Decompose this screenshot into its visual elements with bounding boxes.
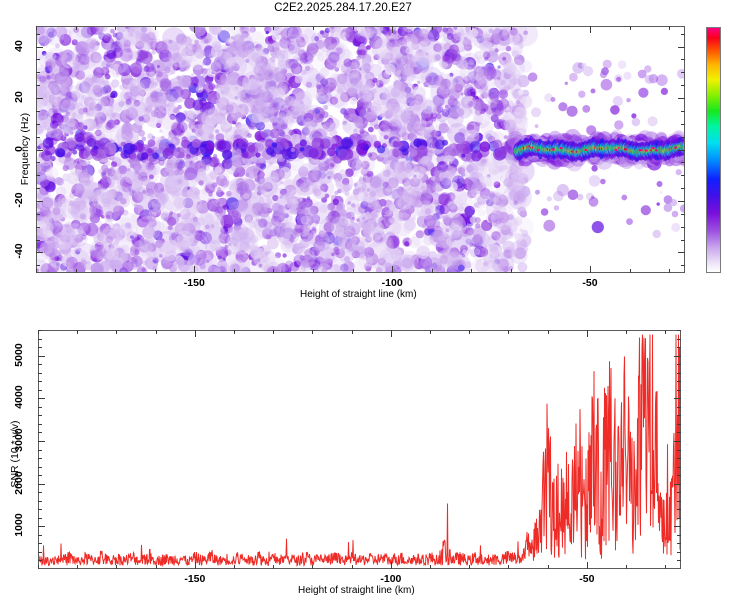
- snr-xtick-minor: [234, 330, 235, 334]
- snr-ytick-minor: [38, 552, 42, 553]
- spectrogram-panel: [36, 26, 685, 273]
- snr-ytick-minor: [38, 432, 42, 433]
- spectrogram-ytick-label: -20: [13, 187, 25, 213]
- snr-xtick-minor: [430, 565, 431, 569]
- snr-xtick-major: [391, 562, 392, 569]
- snr-ytick-label: 2000: [13, 466, 25, 500]
- snr-ytick-major: [38, 398, 45, 399]
- snr-ytick-minor: [38, 560, 42, 561]
- snr-xtick-major: [195, 562, 196, 569]
- spectrogram-ytick-label: 20: [13, 84, 25, 110]
- snr-ytick-minor: [38, 518, 42, 519]
- spectrogram-ytick-minor: [36, 175, 40, 176]
- snr-xtick-minor: [312, 330, 313, 334]
- spectrogram-xtick-minor: [76, 269, 77, 273]
- spectrogram-ytick-major: [36, 47, 43, 48]
- spectrogram-xtick-minor: [155, 26, 156, 30]
- spectrogram-xtick-minor: [313, 26, 314, 30]
- spectrogram-xtick-minor: [76, 26, 77, 30]
- spectrogram-xtick-major: [590, 26, 591, 33]
- spectrogram-xtick-minor: [313, 269, 314, 273]
- spectrogram-ytick-minor: [681, 34, 685, 35]
- spectrogram-xtick-major: [194, 266, 195, 273]
- snr-ytick-minor: [677, 458, 681, 459]
- snr-ytick-minor: [677, 364, 681, 365]
- spectrogram-xtick-minor: [630, 26, 631, 30]
- snr-xtick-major: [391, 330, 392, 337]
- snr-ytick-minor: [677, 501, 681, 502]
- snr-ytick-minor: [38, 535, 42, 536]
- spectrogram-ytick-minor: [36, 72, 40, 73]
- spectrogram-xtick-minor: [234, 269, 235, 273]
- snr-trace: [39, 331, 680, 568]
- snr-xtick-minor: [469, 565, 470, 569]
- snr-xtick-minor: [508, 565, 509, 569]
- snr-ytick-minor: [677, 432, 681, 433]
- snr-ytick-major: [38, 356, 45, 357]
- spectrogram-xtick-minor: [115, 269, 116, 273]
- spectrogram-ytick-minor: [36, 111, 40, 112]
- snr-ytick-major: [674, 398, 681, 399]
- snr-ytick-major: [674, 441, 681, 442]
- spectrogram-xtick-minor: [669, 26, 670, 30]
- snr-ytick-minor: [38, 390, 42, 391]
- spectrogram-ytick-minor: [681, 72, 685, 73]
- spectrogram-ytick-minor: [36, 162, 40, 163]
- spectrogram-ytick-major: [36, 252, 43, 253]
- snr-ytick-minor: [677, 509, 681, 510]
- snr-xtick-minor: [665, 565, 666, 569]
- spectrogram-xtick-major: [392, 266, 393, 273]
- snr-ytick-major: [38, 484, 45, 485]
- spectrogram-ytick-major: [678, 252, 685, 253]
- snr-xtick-minor: [352, 330, 353, 334]
- spectrogram-ytick-major: [36, 150, 43, 151]
- spectrogram-ytick-minor: [681, 175, 685, 176]
- snr-xtick-minor: [116, 565, 117, 569]
- snr-xtick-minor: [156, 330, 157, 334]
- spectrogram-xtick-minor: [36, 26, 37, 30]
- snr-ytick-minor: [38, 381, 42, 382]
- spectrogram-ytick-minor: [681, 137, 685, 138]
- spectrogram-xtick-major: [194, 26, 195, 33]
- snr-ytick-label: 4000: [13, 380, 25, 414]
- snr-xtick-major: [587, 562, 588, 569]
- spectrogram-ytick-label: 0: [13, 136, 25, 162]
- snr-ytick-minor: [38, 424, 42, 425]
- snr-xtick-major: [587, 330, 588, 337]
- snr-xtick-label: -150: [184, 573, 205, 585]
- snr-ytick-minor: [38, 492, 42, 493]
- snr-ytick-minor: [38, 467, 42, 468]
- spectrogram-image: [37, 27, 684, 272]
- spectrogram-ytick-major: [678, 47, 685, 48]
- spectrogram-ytick-minor: [681, 111, 685, 112]
- spectrogram-xtick-minor: [155, 269, 156, 273]
- snr-ytick-minor: [677, 543, 681, 544]
- spectrogram-ytick-minor: [681, 85, 685, 86]
- spectrogram-xtick-label: -150: [184, 277, 205, 289]
- snr-ytick-minor: [677, 373, 681, 374]
- spectrogram-xtick-minor: [432, 26, 433, 30]
- snr-xtick-minor: [430, 330, 431, 334]
- spectrogram-xtick-minor: [115, 26, 116, 30]
- snr-ytick-minor: [38, 407, 42, 408]
- snr-xlabel: Height of straight line (km): [298, 585, 415, 596]
- snr-ytick-major: [674, 356, 681, 357]
- colorbar-gradient: [707, 28, 720, 272]
- spectrogram-xtick-major: [590, 266, 591, 273]
- spectrogram-xtick-label: -100: [382, 277, 403, 289]
- snr-xtick-minor: [508, 330, 509, 334]
- snr-ytick-minor: [38, 330, 42, 331]
- snr-ytick-minor: [677, 467, 681, 468]
- spectrogram-xtick-major: [392, 26, 393, 33]
- snr-xtick-minor: [234, 565, 235, 569]
- snr-xtick-label: -50: [579, 573, 594, 585]
- spectrogram-ytick-minor: [681, 59, 685, 60]
- spectrogram-ytick-minor: [36, 240, 40, 241]
- spectrogram-xtick-minor: [273, 26, 274, 30]
- snr-ytick-minor: [677, 518, 681, 519]
- spectrogram-ytick-major: [678, 201, 685, 202]
- snr-ytick-major: [674, 526, 681, 527]
- spectrogram-xtick-minor: [471, 269, 472, 273]
- snr-ytick-minor: [38, 458, 42, 459]
- spectrogram-ytick-minor: [36, 265, 40, 266]
- snr-ytick-minor: [677, 475, 681, 476]
- snr-panel: [38, 330, 681, 569]
- spectrogram-xtick-minor: [273, 269, 274, 273]
- snr-xtick-minor: [626, 330, 627, 334]
- snr-xtick-minor: [116, 330, 117, 334]
- spectrogram-ytick-major: [678, 150, 685, 151]
- snr-ytick-minor: [677, 415, 681, 416]
- snr-xtick-label: -100: [380, 573, 401, 585]
- spectrogram-ytick-minor: [681, 265, 685, 266]
- snr-ytick-minor: [38, 347, 42, 348]
- spectrogram-ytick-minor: [36, 214, 40, 215]
- snr-xtick-minor: [352, 565, 353, 569]
- spectrogram-ytick-minor: [681, 124, 685, 125]
- spectrogram-ytick-label: 40: [13, 33, 25, 59]
- spectrogram-ytick-major: [36, 98, 43, 99]
- colorbar: [706, 27, 721, 273]
- spectrogram-xlabel: Height of straight line (km): [300, 289, 417, 300]
- snr-ytick-minor: [38, 475, 42, 476]
- snr-xtick-minor: [626, 565, 627, 569]
- snr-ytick-minor: [677, 330, 681, 331]
- snr-ytick-minor: [677, 492, 681, 493]
- snr-ytick-minor: [677, 552, 681, 553]
- snr-xtick-minor: [273, 330, 274, 334]
- snr-xtick-minor: [548, 330, 549, 334]
- snr-ytick-minor: [38, 543, 42, 544]
- spectrogram-xtick-label: -50: [582, 277, 597, 289]
- figure-root: C2E2.2025.284.17.20.E27 Frequency (Hz) H…: [0, 0, 750, 600]
- spectrogram-ytick-minor: [36, 227, 40, 228]
- snr-ytick-minor: [677, 347, 681, 348]
- spectrogram-ytick-minor: [36, 34, 40, 35]
- snr-xtick-minor: [548, 565, 549, 569]
- spectrogram-xtick-minor: [234, 26, 235, 30]
- page-title: C2E2.2025.284.17.20.E27: [0, 2, 686, 14]
- spectrogram-ytick-minor: [681, 162, 685, 163]
- spectrogram-ytick-minor: [36, 188, 40, 189]
- snr-ytick-minor: [38, 373, 42, 374]
- snr-xtick-minor: [77, 330, 78, 334]
- snr-ytick-minor: [38, 364, 42, 365]
- spectrogram-ytick-major: [36, 201, 43, 202]
- snr-ytick-minor: [38, 509, 42, 510]
- snr-ytick-minor: [677, 424, 681, 425]
- spectrogram-xtick-minor: [353, 26, 354, 30]
- spectrogram-ytick-minor: [36, 137, 40, 138]
- snr-line: [39, 335, 680, 566]
- spectrogram-ytick-minor: [36, 59, 40, 60]
- snr-ytick-minor: [677, 381, 681, 382]
- spectrogram-xtick-minor: [550, 269, 551, 273]
- snr-xtick-minor: [38, 565, 39, 569]
- snr-xtick-minor: [469, 330, 470, 334]
- snr-ytick-minor: [38, 339, 42, 340]
- snr-ytick-minor: [677, 560, 681, 561]
- snr-xtick-minor: [312, 565, 313, 569]
- snr-ytick-major: [674, 484, 681, 485]
- spectrogram-xtick-minor: [511, 26, 512, 30]
- snr-xtick-minor: [273, 565, 274, 569]
- snr-ytick-minor: [677, 407, 681, 408]
- snr-ytick-minor: [38, 415, 42, 416]
- spectrogram-xtick-minor: [550, 26, 551, 30]
- snr-xtick-minor: [665, 330, 666, 334]
- spectrogram-ytick-minor: [681, 227, 685, 228]
- snr-ytick-minor: [677, 339, 681, 340]
- spectrogram-ytick-major: [678, 98, 685, 99]
- spectrogram-xtick-minor: [36, 269, 37, 273]
- spectrogram-xtick-minor: [471, 26, 472, 30]
- spectrogram-ytick-minor: [681, 214, 685, 215]
- snr-xtick-major: [195, 330, 196, 337]
- snr-xtick-minor: [156, 565, 157, 569]
- spectrogram-xtick-minor: [669, 269, 670, 273]
- snr-ytick-minor: [677, 450, 681, 451]
- spectrogram-xtick-minor: [511, 269, 512, 273]
- snr-ytick-major: [38, 441, 45, 442]
- snr-ytick-minor: [677, 535, 681, 536]
- spectrogram-ytick-minor: [681, 188, 685, 189]
- spectrogram-ytick-minor: [681, 240, 685, 241]
- spectrogram-ytick-minor: [36, 85, 40, 86]
- spectrogram-xtick-minor: [432, 269, 433, 273]
- snr-ytick-minor: [38, 450, 42, 451]
- snr-ytick-minor: [38, 501, 42, 502]
- spectrogram-ytick-minor: [36, 124, 40, 125]
- snr-ytick-label: 1000: [13, 508, 25, 542]
- spectrogram-xtick-minor: [630, 269, 631, 273]
- spectrogram-xtick-minor: [353, 269, 354, 273]
- snr-ytick-minor: [677, 390, 681, 391]
- snr-ytick-label: 3000: [13, 423, 25, 457]
- snr-ytick-label: 5000: [13, 338, 25, 372]
- snr-ytick-major: [38, 526, 45, 527]
- snr-xtick-minor: [77, 565, 78, 569]
- spectrogram-ytick-label: -40: [13, 238, 25, 264]
